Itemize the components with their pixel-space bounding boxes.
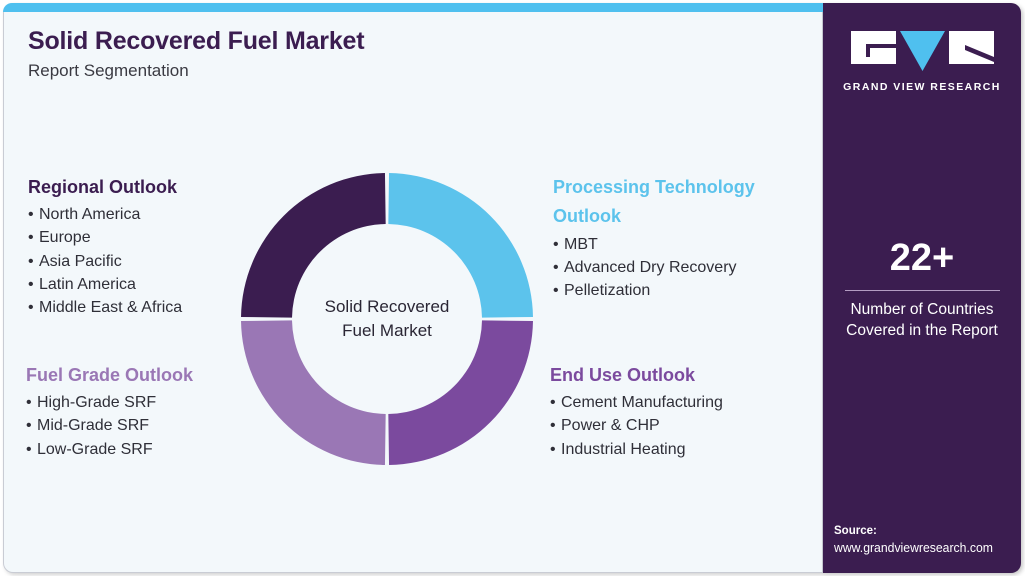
- segment-list-processing-technology: MBT Advanced Dry Recovery Pelletization: [553, 233, 803, 302]
- top-accent-bar: [3, 3, 823, 12]
- list-item: High-Grade SRF: [26, 391, 276, 414]
- logo-g-icon: [851, 29, 896, 66]
- stat-label-line-1: Number of Countries: [823, 300, 1021, 321]
- donut-slices: [241, 173, 533, 465]
- segment-end-use-outlook: End Use Outlook Cement Manufacturing Pow…: [550, 361, 810, 461]
- stat-number: 22+: [823, 239, 1021, 277]
- logo-r-icon: [949, 29, 994, 66]
- list-item: Power & CHP: [550, 414, 810, 437]
- segment-list-fuel-grade: High-Grade SRF Mid-Grade SRF Low-Grade S…: [26, 391, 276, 460]
- segment-list-end-use: Cement Manufacturing Power & CHP Industr…: [550, 391, 810, 460]
- brand-logo: GRAND VIEW RESEARCH: [823, 29, 1021, 93]
- infographic-root: Solid Recovered Fuel Market Report Segme…: [0, 0, 1025, 576]
- list-item: Cement Manufacturing: [550, 391, 810, 414]
- stat-block-countries: 22+ Number of Countries Covered in the R…: [823, 239, 1021, 341]
- stat-label-line-2: Covered in the Report: [823, 321, 1021, 342]
- list-item: Pelletization: [553, 279, 803, 302]
- donut-slice-processing-technology: [388, 173, 533, 318]
- list-item: Mid-Grade SRF: [26, 414, 276, 437]
- segment-processing-technology-outlook: Processing Technology Outlook MBT Advanc…: [553, 173, 803, 302]
- source-url[interactable]: www.grandviewresearch.com: [834, 540, 1009, 555]
- source-title: Source:: [834, 525, 1020, 537]
- donut-slice-fuel-grade: [241, 320, 386, 465]
- logo-v-triangle-icon: [900, 29, 945, 74]
- page-subtitle: Report Segmentation: [28, 61, 189, 81]
- list-item: Advanced Dry Recovery: [553, 256, 803, 279]
- segment-heading-end-use: End Use Outlook: [550, 361, 810, 389]
- donut-chart-svg: [241, 173, 533, 465]
- segment-heading-fuel-grade: Fuel Grade Outlook: [26, 361, 276, 389]
- segment-heading-processing-technology: Processing Technology Outlook: [553, 173, 803, 231]
- content-panel: Solid Recovered Fuel Market Report Segme…: [3, 3, 823, 573]
- sidebar-panel: GRAND VIEW RESEARCH 22+ Number of Countr…: [823, 3, 1021, 573]
- stat-divider: [845, 290, 1000, 291]
- segment-fuel-grade-outlook: Fuel Grade Outlook High-Grade SRF Mid-Gr…: [26, 361, 276, 461]
- list-item: MBT: [553, 233, 803, 256]
- list-item: Industrial Heating: [550, 438, 810, 461]
- logo-marks: [851, 29, 994, 74]
- source-block: Source: www.grandviewresearch.com: [834, 525, 1020, 555]
- logo-wordmark-text: GRAND VIEW RESEARCH: [843, 81, 1001, 93]
- donut-slice-regional: [241, 173, 386, 318]
- donut-chart: Solid Recovered Fuel Market: [241, 173, 533, 465]
- list-item: Low-Grade SRF: [26, 438, 276, 461]
- stat-label: Number of Countries Covered in the Repor…: [823, 300, 1021, 341]
- donut-slice-end-use: [388, 320, 533, 465]
- page-title: Solid Recovered Fuel Market: [28, 27, 364, 56]
